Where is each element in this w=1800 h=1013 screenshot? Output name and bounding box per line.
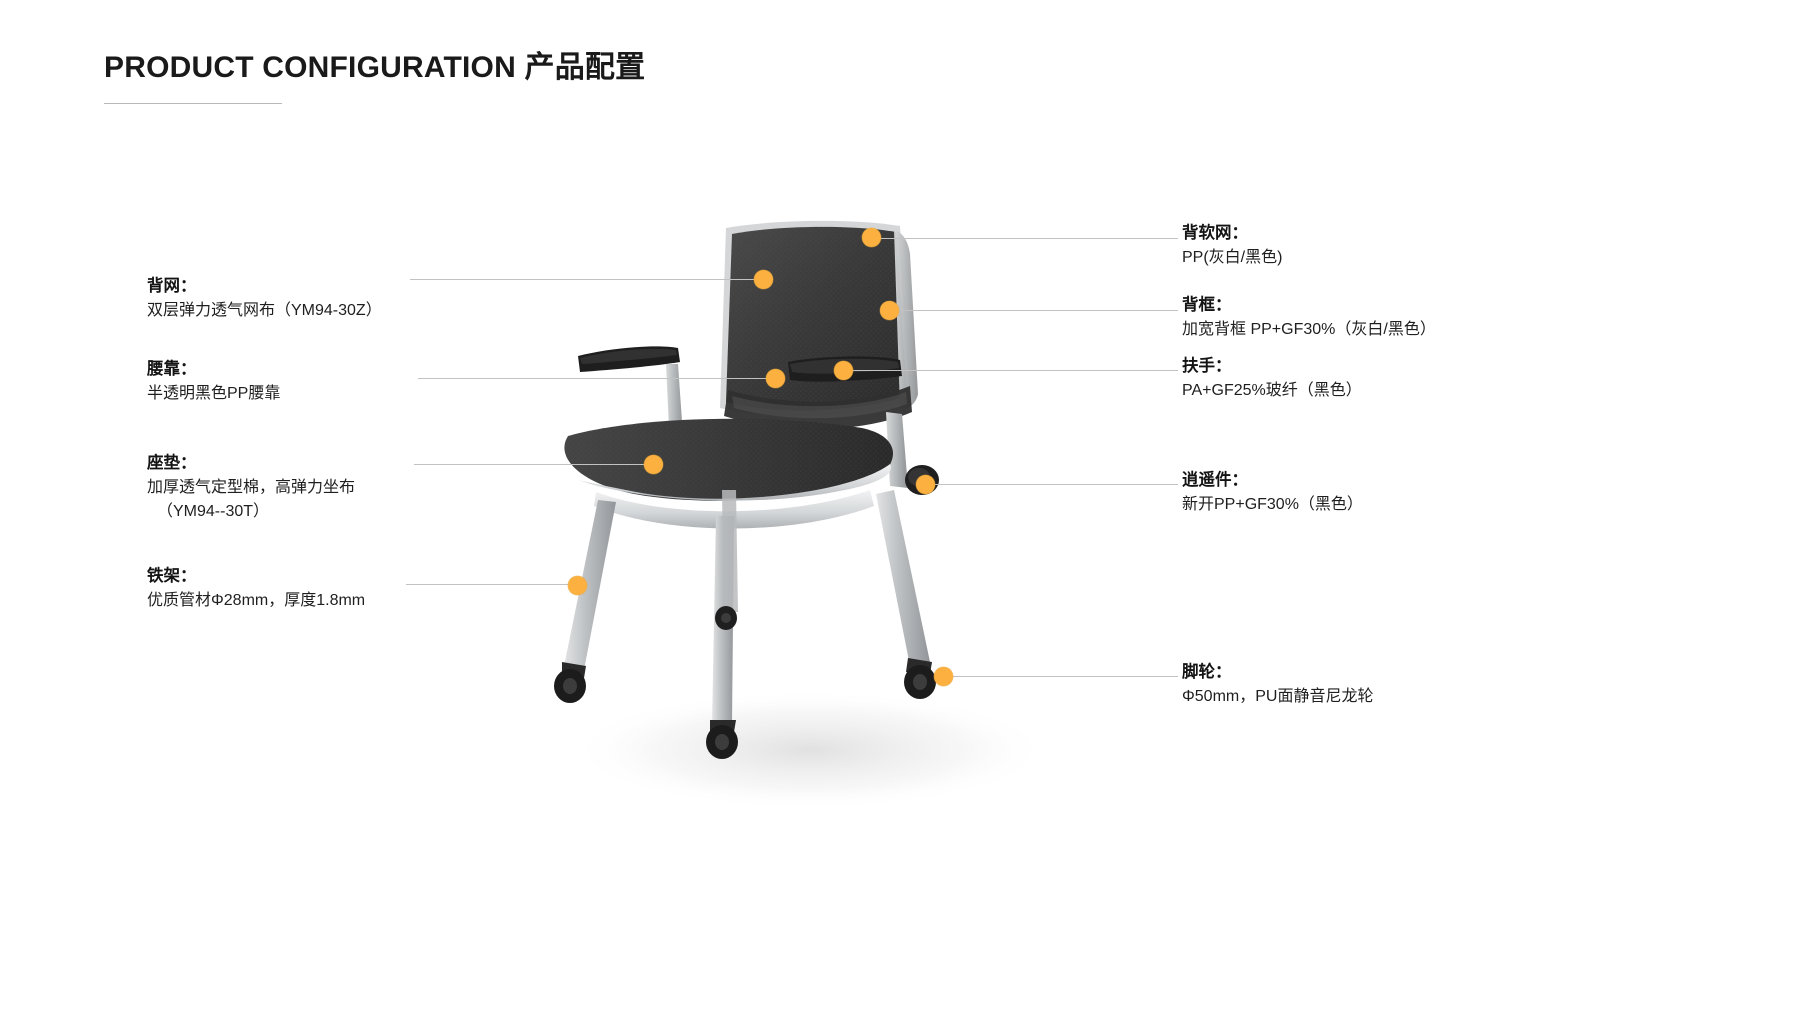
callout-back-frame: 背框： 加宽背框 PP+GF30%（灰白/黑色） (1182, 294, 1436, 342)
hotspot-caster[interactable] (934, 667, 953, 686)
callout-armrest: 扶手： PA+GF25%玻纤（黑色） (1182, 355, 1362, 403)
callout-seat-cushion: 座垫： 加厚透气定型棉，高弹力坐布 （YM94--30T） (147, 452, 355, 524)
product-photo-office-chair (470, 150, 1170, 850)
callout-desc-lumbar-support-1: 半透明黑色PP腰靠 (147, 382, 280, 406)
callout-title-back-mesh: 背网： (147, 275, 382, 299)
hotspot-steel-frame[interactable] (568, 576, 587, 595)
callout-desc-seat-cushion-2: （YM94--30T） (147, 500, 355, 524)
leader-line-armrest (842, 370, 1178, 371)
callout-desc-steel-frame-1: 优质管材Φ28mm，厚度1.8mm (147, 589, 365, 613)
callout-desc-armrest-1: PA+GF25%玻纤（黑色） (1182, 379, 1362, 403)
callout-title-caster: 脚轮： (1182, 661, 1373, 685)
callout-desc-back-frame-1: 加宽背框 PP+GF30%（灰白/黑色） (1182, 318, 1436, 342)
leader-line-caster (944, 676, 1178, 677)
callout-desc-recliner-part-1: 新开PP+GF30%（黑色） (1182, 493, 1363, 517)
hotspot-back-soft-mesh[interactable] (862, 228, 881, 247)
product-diagram-stage: 背网： 双层弹力透气网布（YM94-30Z） 腰靠： 半透明黑色PP腰靠 座垫：… (0, 0, 1800, 1013)
hotspot-back-frame[interactable] (880, 301, 899, 320)
hotspot-seat-cushion[interactable] (644, 455, 663, 474)
hotspot-back-mesh[interactable] (754, 270, 773, 289)
callout-title-recliner-part: 逍遥件： (1182, 469, 1363, 493)
hotspot-lumbar-support[interactable] (766, 369, 785, 388)
callout-title-steel-frame: 铁架： (147, 565, 365, 589)
callout-title-seat-cushion: 座垫： (147, 452, 355, 476)
callout-title-back-frame: 背框： (1182, 294, 1436, 318)
callout-caster: 脚轮： Φ50mm，PU面静音尼龙轮 (1182, 661, 1373, 709)
callout-recliner-part: 逍遥件： 新开PP+GF30%（黑色） (1182, 469, 1363, 517)
leader-line-recliner-part (924, 484, 1178, 485)
leader-line-back-soft-mesh (872, 238, 1178, 239)
callout-title-armrest: 扶手： (1182, 355, 1362, 379)
hotspot-recliner-part[interactable] (916, 475, 935, 494)
callout-back-soft-mesh: 背软网： PP(灰白/黑色) (1182, 222, 1282, 270)
leader-line-lumbar-support (418, 378, 776, 379)
callout-desc-back-mesh-1: 双层弹力透气网布（YM94-30Z） (147, 299, 382, 323)
callout-steel-frame: 铁架： 优质管材Φ28mm，厚度1.8mm (147, 565, 365, 613)
leader-line-steel-frame (406, 584, 578, 585)
hotspot-armrest[interactable] (834, 361, 853, 380)
leader-line-seat-cushion (414, 464, 654, 465)
callout-title-back-soft-mesh: 背软网： (1182, 222, 1282, 246)
callout-desc-back-soft-mesh-1: PP(灰白/黑色) (1182, 246, 1282, 270)
callout-desc-caster-1: Φ50mm，PU面静音尼龙轮 (1182, 685, 1373, 709)
callout-desc-seat-cushion-1: 加厚透气定型棉，高弹力坐布 (147, 476, 355, 500)
callout-back-mesh: 背网： 双层弹力透气网布（YM94-30Z） (147, 275, 382, 323)
leader-line-back-mesh (410, 279, 762, 280)
leader-line-back-frame (888, 310, 1178, 311)
callout-title-lumbar-support: 腰靠： (147, 358, 280, 382)
callout-lumbar-support: 腰靠： 半透明黑色PP腰靠 (147, 358, 280, 406)
